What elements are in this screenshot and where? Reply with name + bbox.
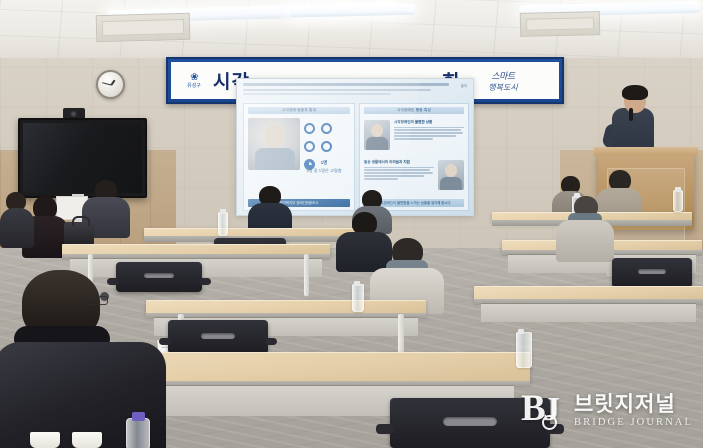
chair-arm-right xyxy=(265,338,277,345)
yuseong-gu-logo: ❀ 유성구 xyxy=(181,73,207,89)
seminar-room-photo: ❀ 유성구 시각 회 스마트 행복도시 출처 시각장애 현황과 통계 xyxy=(0,0,703,448)
clock-minute-hand xyxy=(102,82,111,85)
banner-logo-line2: 행복도시 xyxy=(488,82,517,93)
chair-handle-slot xyxy=(638,269,665,274)
slide-source-label: 출처 xyxy=(461,83,467,88)
attendee-row2-right-gray xyxy=(556,196,614,262)
attendee-body xyxy=(0,208,34,248)
bottle-cap xyxy=(354,281,360,286)
watermark-english: BRIDGE JOURNAL xyxy=(574,417,693,428)
microphone-icon xyxy=(629,108,633,121)
logo-mark-icon: ❀ xyxy=(181,73,207,83)
eyeglasses-icon xyxy=(86,296,108,305)
water-bottle-foreground xyxy=(126,418,150,448)
shoulder-bag xyxy=(64,222,94,246)
chair-row-3 xyxy=(168,320,268,354)
attendee-body xyxy=(556,220,614,262)
logo-circle-accent xyxy=(542,415,557,430)
table-row-3-right xyxy=(474,286,703,300)
paper-cup xyxy=(72,432,102,448)
ac-vent-left xyxy=(96,13,191,42)
block-2-photo-body xyxy=(440,177,462,190)
logo-subtext: 유성구 xyxy=(181,84,207,89)
table-modesty-panel xyxy=(481,303,696,322)
chair-handle-slot xyxy=(201,333,235,339)
bag-handle xyxy=(72,216,90,226)
block-2-photo-head xyxy=(445,164,457,177)
watermark-text: 브릿지저널 BRIDGE JOURNAL xyxy=(574,394,693,428)
chair-handle-slot xyxy=(443,417,497,426)
table-row-1 xyxy=(144,228,364,237)
bottle-cap xyxy=(675,187,681,192)
ceiling xyxy=(0,0,703,62)
attendee-row1-left xyxy=(248,186,292,232)
wall-clock-icon xyxy=(96,70,125,99)
bottle-cap xyxy=(220,209,226,214)
table-leg xyxy=(304,254,309,296)
bottle-cap xyxy=(132,412,145,421)
logo-letter-b: B xyxy=(521,390,544,427)
presenter-hair xyxy=(622,85,648,100)
attendee-row2-left-second xyxy=(0,192,34,248)
chair-arm-right xyxy=(199,278,211,285)
bridge-journal-watermark: B J 브릿지저널 BRIDGE JOURNAL xyxy=(521,388,693,434)
chair-arm-left xyxy=(376,424,394,434)
table-row-2 xyxy=(62,244,330,255)
water-bottle xyxy=(352,284,364,312)
block-2-photo xyxy=(438,160,464,190)
banner-logo-line1: 스마트 xyxy=(491,69,514,82)
watermark-korean: 브릿지저널 xyxy=(574,394,693,416)
lectern-top xyxy=(594,147,698,156)
bj-logo-icon: B J xyxy=(521,388,567,434)
water-bottle xyxy=(218,212,228,236)
water-bottle xyxy=(673,190,683,212)
paper-cup xyxy=(30,432,60,448)
ac-vent-right xyxy=(520,11,601,37)
table-row-3 xyxy=(146,300,426,314)
bottle-cap xyxy=(518,329,524,334)
water-bottle xyxy=(516,332,532,368)
chair-row-2-right xyxy=(612,258,692,288)
